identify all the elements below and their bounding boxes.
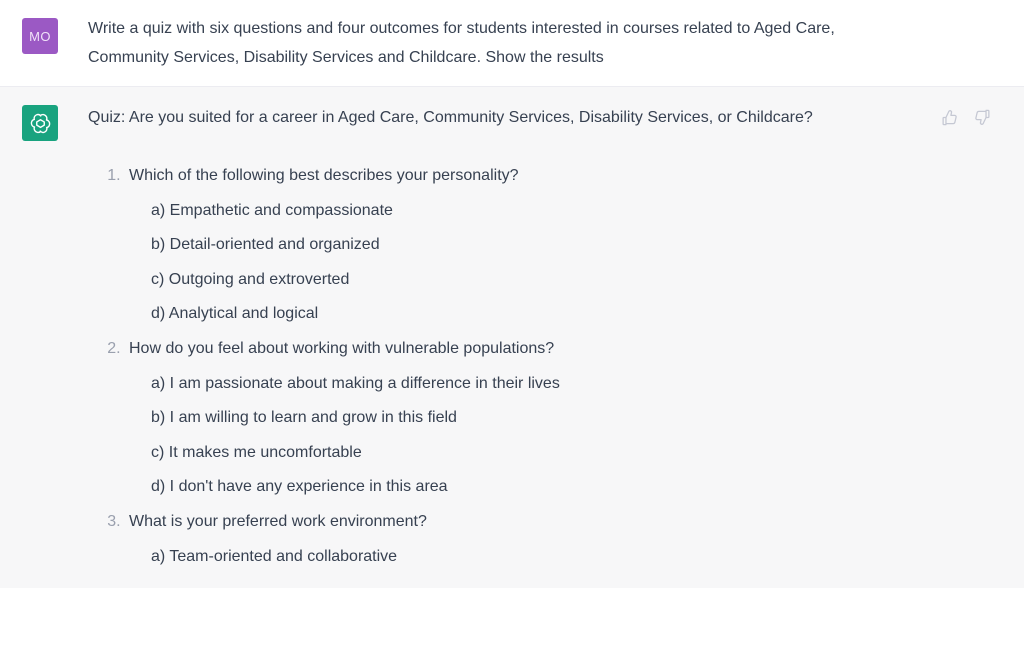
question-option-list: a) I am passionate about making a differ… [129,367,888,505]
question-option: b) I am willing to learn and grow in thi… [129,401,888,436]
thumbs-up-icon [941,109,958,126]
question-option: a) Team-oriented and collaborative [129,540,888,575]
question-text: How do you feel about working with vulne… [129,340,554,357]
quiz-question-item: How do you feel about working with vulne… [125,332,888,505]
chat-conversation-view: MO Write a quiz with six questions and f… [0,0,1024,660]
assistant-answer-body: Quiz: Are you suited for a career in Age… [88,101,888,574]
quiz-question-item: Which of the following best describes yo… [125,159,888,332]
openai-logo-icon [28,111,53,136]
assistant-message-row: Quiz: Are you suited for a career in Age… [0,87,1024,588]
quiz-question-list: Which of the following best describes yo… [88,159,888,574]
question-option: a) I am passionate about making a differ… [129,367,888,402]
question-option: d) I don't have any experience in this a… [129,470,888,505]
quiz-question-item: What is your preferred work environment?… [125,505,888,574]
question-option: c) Outgoing and extroverted [129,263,888,298]
assistant-message-content: Quiz: Are you suited for a career in Age… [88,101,1024,574]
thumbs-down-icon [974,109,991,126]
user-avatar-column: MO [0,14,88,54]
question-text: What is your preferred work environment? [129,513,427,530]
question-option: d) Analytical and logical [129,297,888,332]
question-option: a) Empathetic and compassionate [129,194,888,229]
assistant-avatar [22,105,58,141]
thumbs-down-button[interactable] [972,107,992,127]
message-feedback-controls [939,107,992,127]
user-message-row: MO Write a quiz with six questions and f… [0,0,1024,87]
user-message-text: Write a quiz with six questions and four… [88,14,883,72]
user-message-content: Write a quiz with six questions and four… [88,14,1024,72]
user-avatar: MO [22,18,58,54]
thumbs-up-button[interactable] [939,107,959,127]
question-option: c) It makes me uncomfortable [129,436,888,471]
quiz-heading: Quiz: Are you suited for a career in Age… [88,101,888,135]
question-option-list: a) Team-oriented and collaborative [129,540,888,575]
assistant-avatar-column [0,101,88,141]
question-option-list: a) Empathetic and compassionate b) Detai… [129,194,888,332]
question-text: Which of the following best describes yo… [129,167,519,184]
question-option: b) Detail-oriented and organized [129,228,888,263]
